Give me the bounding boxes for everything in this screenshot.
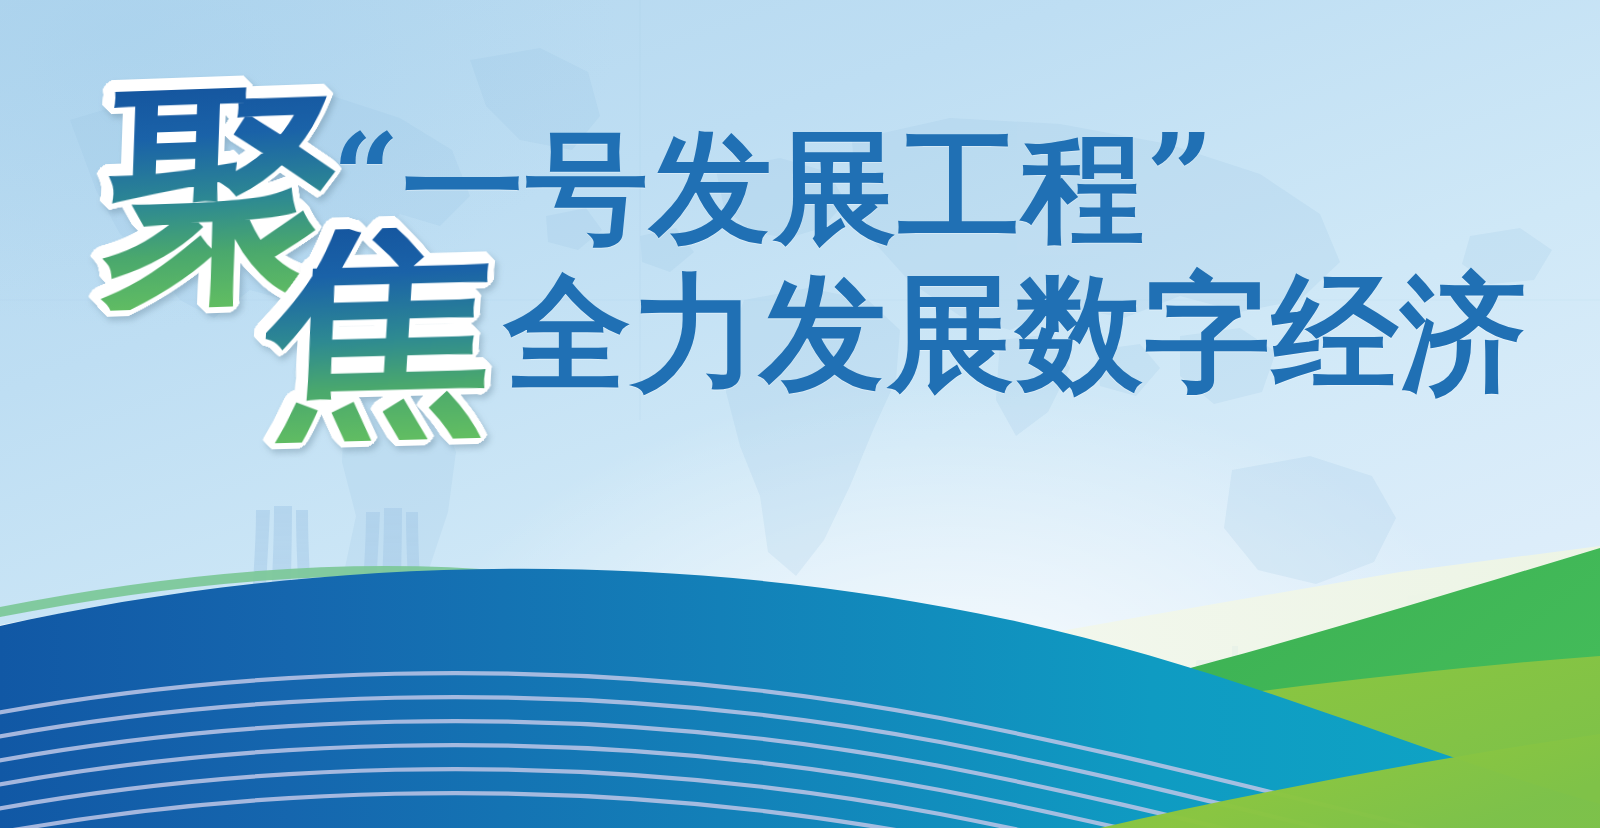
close-quote-mark: ”	[1146, 107, 1216, 246]
landmark-twin-towers-icon	[248, 498, 478, 708]
headline-line-1: “一号发展工程”	[332, 118, 1532, 249]
hills-and-waves-graphic	[0, 528, 1600, 828]
calligraphy-char-ju: 聚	[100, 84, 346, 311]
digital-economy-banner: 聚 焦 “一号发展工程” 全力发展数字经济	[0, 0, 1600, 828]
headline-block: “一号发展工程” 全力发展数字经济	[332, 118, 1532, 397]
headline-line-2: 全力发展数字经济	[504, 271, 1532, 397]
headline-line-1-text: 一号发展工程	[402, 117, 1146, 259]
open-quote-mark: “	[332, 107, 402, 246]
city-skyline-silhouette-icon	[0, 548, 1600, 828]
